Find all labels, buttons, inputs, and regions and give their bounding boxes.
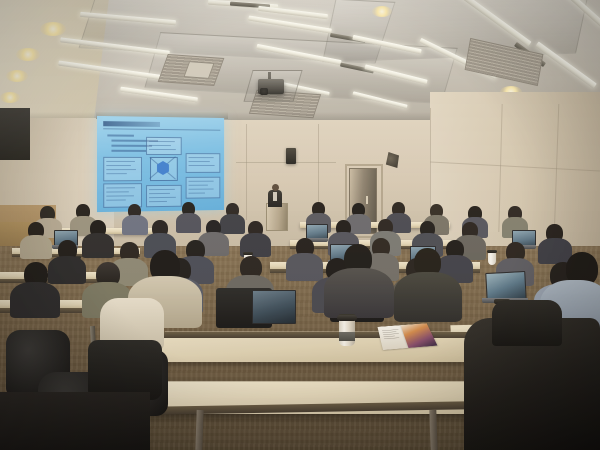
downlight-icon [0, 92, 20, 103]
downlight-icon [40, 22, 66, 36]
presenter-shirt [273, 192, 277, 201]
attendee-legs-foreground [88, 340, 162, 400]
slide-box [186, 153, 221, 173]
door-handle-icon[interactable] [366, 196, 368, 204]
table-leg [429, 410, 437, 450]
downlight-icon [6, 70, 28, 82]
attendee-torso [48, 256, 86, 284]
coffee-cup-sleeve [339, 332, 355, 341]
presenter-head [272, 184, 279, 191]
attendee-torso [394, 272, 462, 322]
program-booklet[interactable] [377, 323, 437, 350]
projector-ceiling-tile [243, 70, 302, 102]
wall-display-panel [0, 108, 30, 160]
foreground-jacket [492, 300, 562, 346]
wall-seam [246, 124, 247, 220]
coffee-cup[interactable] [488, 252, 496, 265]
attendee-torso [10, 282, 60, 318]
slide-title-bar [103, 121, 160, 127]
coffee-cup-lid [337, 315, 357, 321]
laptop[interactable] [252, 290, 296, 324]
attendee-torso [176, 213, 201, 233]
attendee-torso [286, 253, 323, 281]
wall-speaker-icon [286, 148, 296, 164]
attendee-torso [20, 235, 52, 259]
coffee-cup-lid [243, 252, 253, 255]
projection-screen [97, 116, 224, 212]
attendee-torso [122, 215, 148, 235]
downlight-icon [16, 48, 40, 61]
coffee-cup-lid [487, 250, 497, 253]
lectern [266, 203, 288, 231]
attendee-torso [220, 214, 245, 234]
downlight-icon [372, 6, 392, 17]
table-leg [195, 410, 203, 450]
slide-bullet [111, 150, 146, 152]
slide-title-underline [103, 128, 220, 130]
attendee-torso [324, 268, 394, 318]
foreground-shadow-mass [0, 392, 150, 450]
attendee-torso [82, 233, 114, 258]
slide-bullet [107, 134, 134, 136]
seminar-room-photo [0, 0, 600, 450]
